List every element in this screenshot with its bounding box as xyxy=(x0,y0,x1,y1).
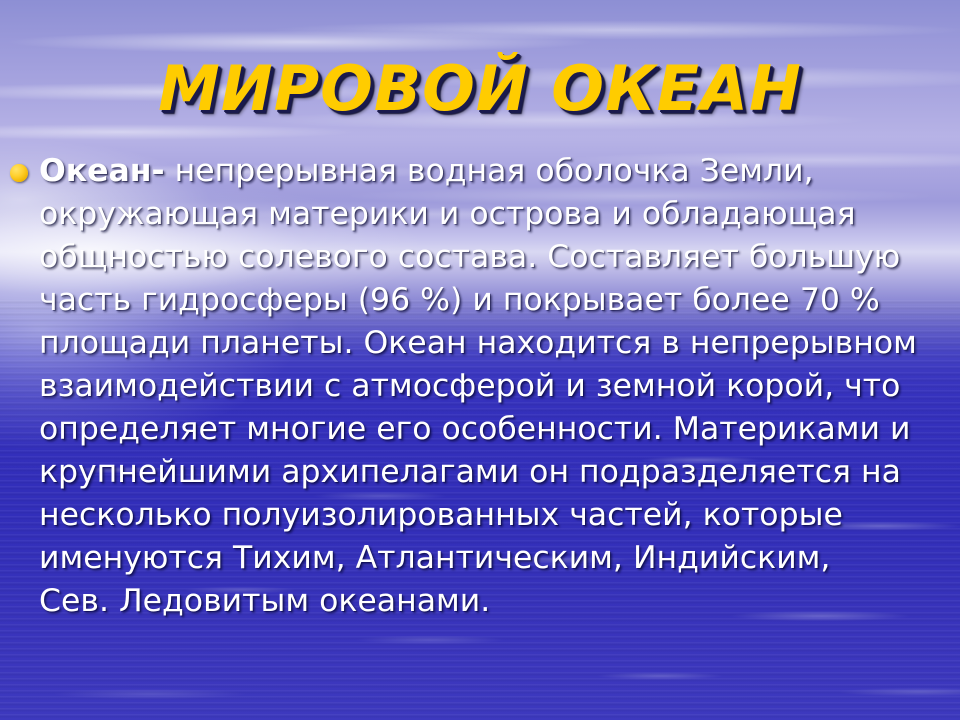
slide-title: МИРОВОЙ ОКЕАН xyxy=(158,58,802,120)
text-line-2: окружающая материки и острова и обладающ… xyxy=(39,193,958,236)
presentation-slide: МИРОВОЙ ОКЕАН Океан- непрерывная водная … xyxy=(0,0,960,720)
text-line-1: Океан- непрерывная водная оболочка Земли… xyxy=(39,150,958,193)
text-line-3: общностью солевого состава. Составляет б… xyxy=(39,236,958,279)
text-line-4: часть гидросферы (96 %) и покрывает боле… xyxy=(39,279,958,322)
bullet-paragraph: Океан- непрерывная водная оболочка Земли… xyxy=(39,150,958,623)
text-line-7: определяет многие его особенности. Матер… xyxy=(39,408,958,451)
bullet-list-item: Океан- непрерывная водная оболочка Земли… xyxy=(10,150,958,623)
text-line-11: Сев. Ледовитым океанами. xyxy=(39,580,958,623)
text-line-9: несколько полуизолированных частей, кото… xyxy=(39,494,958,537)
body-content: Океан- непрерывная водная оболочка Земли… xyxy=(10,150,958,623)
lead-term: Океан- xyxy=(39,153,165,189)
text-line-6: взаимодействии с атмосферой и земной кор… xyxy=(39,365,958,408)
text-line-5: площади планеты. Океан находится в непре… xyxy=(39,322,958,365)
text-line-8: крупнейшими архипелагами он подразделяет… xyxy=(39,451,958,494)
disc-bullet-icon xyxy=(10,164,28,182)
text-line-1-rest: непрерывная водная оболочка Земли, xyxy=(165,153,814,189)
text-line-10: именуются Тихим, Атлантическим, Индийски… xyxy=(39,537,958,580)
title-container: МИРОВОЙ ОКЕАН xyxy=(0,58,960,120)
